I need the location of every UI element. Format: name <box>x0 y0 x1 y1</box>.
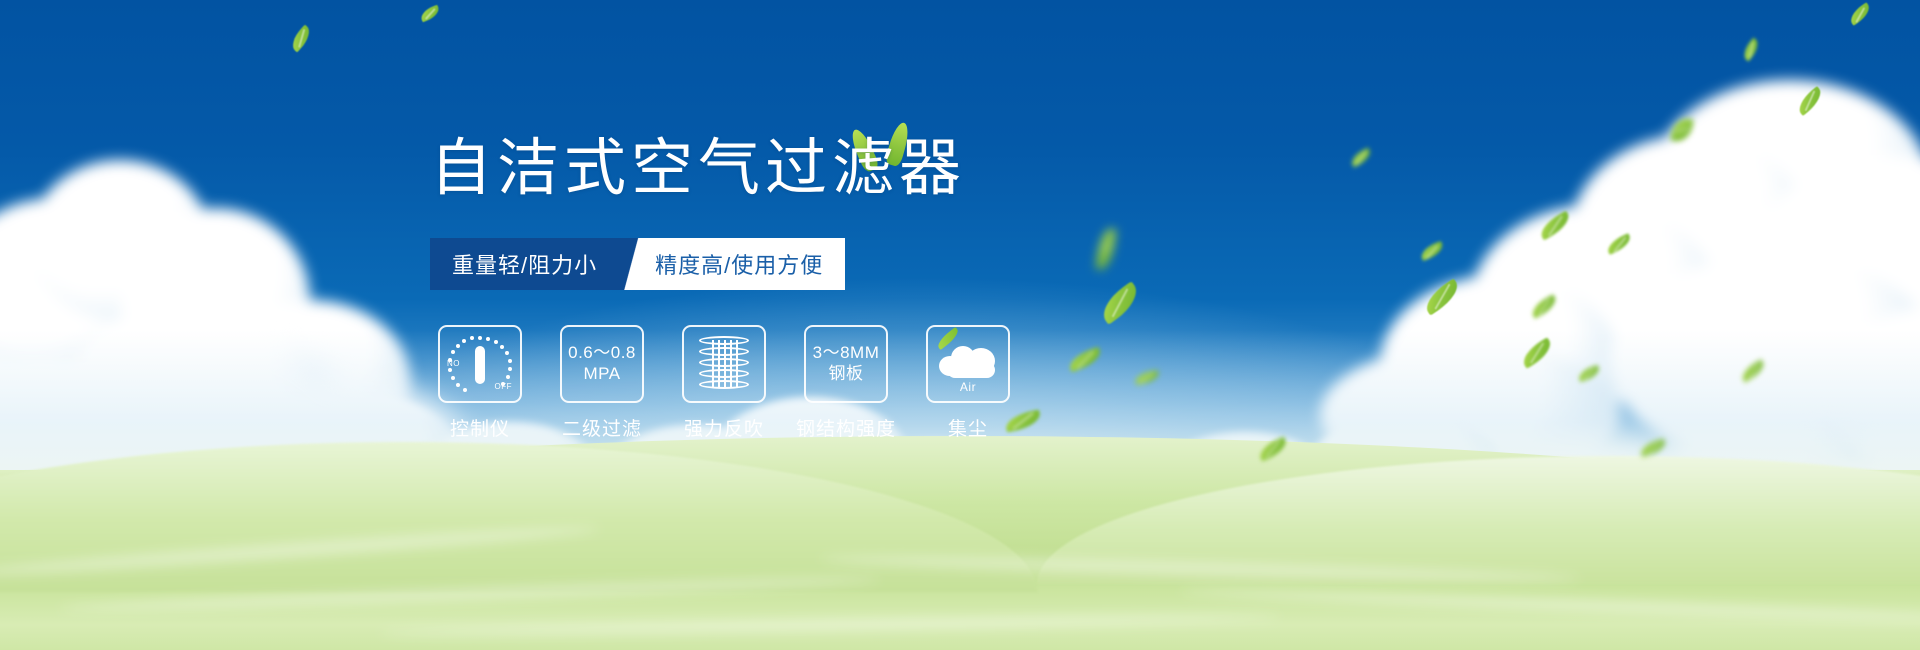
steel-material: 钢板 <box>813 364 880 385</box>
feature-icon-box: 0.6～0.8 MPA <box>560 325 644 403</box>
tagline-tabs: 重量轻/阻力小 精度高/使用方便 <box>430 238 845 290</box>
feature-icon-box: Air <box>926 325 1010 403</box>
coil-icon <box>699 336 749 392</box>
pressure-icon: 0.6～0.8 MPA <box>568 343 636 384</box>
feature-icon-box: NO OFF <box>438 325 522 403</box>
steel-thickness: 3～8MM <box>813 343 880 364</box>
feature-icon-box <box>682 325 766 403</box>
product-banner: 自洁式空气过滤器 重量轻/阻力小 精度高/使用方便 NO OFF <box>0 0 1920 650</box>
tagline-tab-divider <box>621 238 647 290</box>
cloud-puff <box>947 362 995 378</box>
tagline-tab-primary[interactable]: 重量轻/阻力小 <box>430 238 621 290</box>
pressure-unit: MPA <box>568 364 636 385</box>
feature-icon-box: 3～8MM 钢板 <box>804 325 888 403</box>
feature-item-steel[interactable]: 3～8MM 钢板 钢结构强度 <box>804 325 888 441</box>
feature-label: 钢结构强度 <box>796 414 896 441</box>
feature-item-blowback[interactable]: 强力反吹 <box>682 325 766 441</box>
feature-item-controller[interactable]: NO OFF <box>438 325 522 441</box>
feature-label: 集尘 <box>948 414 988 441</box>
gauge-icon: NO OFF <box>448 335 512 393</box>
feature-label: 二级过滤 <box>562 414 642 441</box>
tagline-tab-secondary[interactable]: 精度高/使用方便 <box>647 238 845 290</box>
air-cloud-icon: Air <box>937 336 999 392</box>
pressure-value: 0.6～0.8 <box>568 343 636 364</box>
feature-label: 控制仪 <box>450 414 510 441</box>
gauge-needle <box>475 346 485 384</box>
page-title: 自洁式空气过滤器 <box>430 138 966 200</box>
steel-plate-icon: 3～8MM 钢板 <box>813 343 880 384</box>
feature-item-filter[interactable]: 0.6～0.8 MPA 二级过滤 <box>560 325 644 441</box>
feature-label: 强力反吹 <box>684 414 764 441</box>
banner-copy: 自洁式空气过滤器 重量轻/阻力小 精度高/使用方便 NO OFF <box>0 0 1920 650</box>
feature-list: NO OFF <box>438 325 1010 441</box>
air-label: Air <box>937 380 999 394</box>
feature-item-dust[interactable]: Air 集尘 <box>926 325 1010 441</box>
